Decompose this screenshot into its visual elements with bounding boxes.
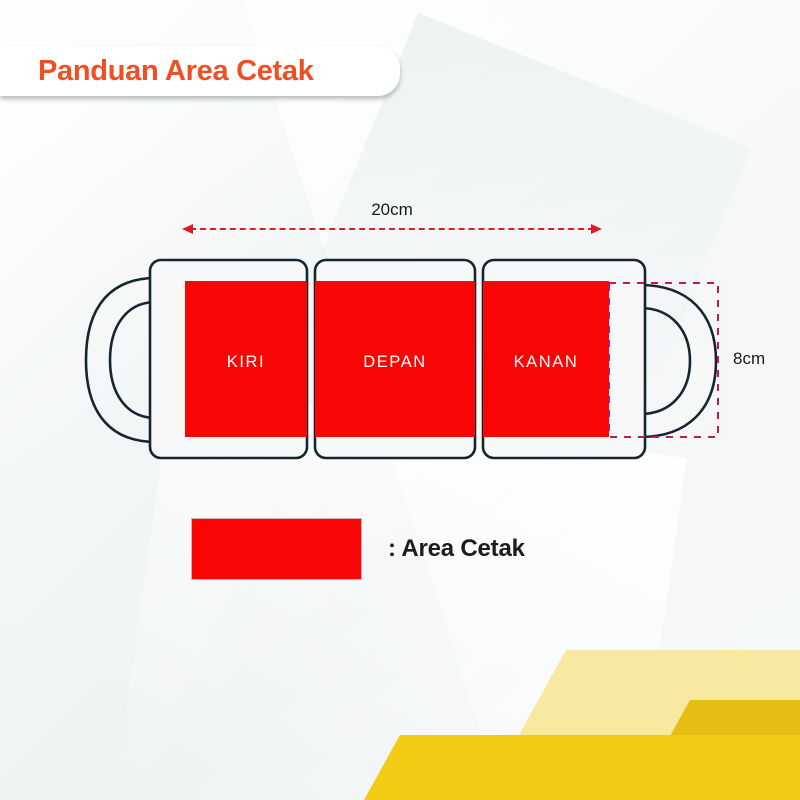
legend-label: : Area Cetak [388, 535, 525, 563]
arrow-right-icon [591, 224, 602, 234]
legend: : Area Cetak [191, 518, 525, 580]
dimension-height-label: 8cm [733, 349, 765, 369]
page-title: Panduan Area Cetak [38, 55, 314, 88]
dimension-width-label: 20cm [182, 200, 602, 220]
poster-canvas: Panduan Area Cetak 20cm [0, 0, 800, 800]
panel-label-front: DEPAN [315, 353, 475, 372]
panel-label-right: KANAN [483, 353, 609, 372]
title-banner: Panduan Area Cetak [0, 46, 400, 96]
legend-swatch-print-area [191, 518, 362, 580]
dimension-width-line [190, 228, 594, 230]
panel-label-left: KIRI [185, 353, 307, 372]
dimension-width-arrow [182, 228, 602, 230]
